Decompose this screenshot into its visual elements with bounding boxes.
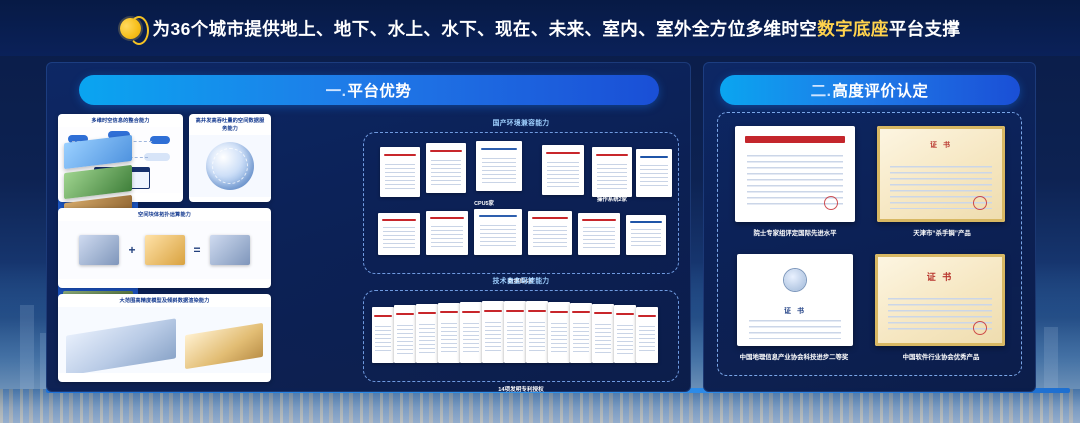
panel-platform-advantages: 一. 平台优势 多维时空信息的整合能力 <box>46 62 691 392</box>
plus-icon: + <box>128 243 135 257</box>
diagram-boolean-ops: + = <box>58 221 271 279</box>
patent-thumb[interactable] <box>548 302 570 363</box>
certificate-caption: 院士专家组评定国际先进水平 <box>725 228 865 237</box>
card-label: 多维时空信息的整合能力 <box>58 114 183 127</box>
patent-thumb[interactable] <box>592 304 614 363</box>
card-large-scale-rendering[interactable]: 大范围高精度模型及倾斜数据渲染能力 <box>58 294 271 382</box>
page-title-highlight: 数字底座 <box>817 19 889 39</box>
top-title-bar: 为36个城市提供地上、地下、水上、水下、现在、未来、室内、室外全方位多维时空数字… <box>0 0 1080 56</box>
panel-high-evaluation: 二. 高度评价认定 院士专家组评定国际先进水平 证 书 天津市“杀手锏”产品 <box>703 62 1036 392</box>
certificate-caption: 中国地理信息产业协会科技进步二等奖 <box>719 352 869 361</box>
patent-thumb[interactable] <box>372 307 394 363</box>
terrain-mesh <box>66 318 176 373</box>
certificate-title: 证 书 <box>877 140 1005 150</box>
certificate-title: 证 书 <box>875 270 1005 283</box>
right-panel-body: 院士专家组评定国际先进水平 证 书 天津市“杀手锏”产品 证 书 中国地理信息产… <box>717 112 1022 382</box>
certificate-caption: 中国软件行业协会优秀产品 <box>875 352 1007 361</box>
certificate-header-band <box>745 136 846 143</box>
section-label-right: 高度评价认定 <box>832 79 928 101</box>
section-title-platform-advantages: 一. 平台优势 <box>79 75 659 105</box>
section-label-left: 平台优势 <box>347 79 411 101</box>
group-independent-controllable: 技术自主可控能力 14项发明专利授权 <box>363 290 679 382</box>
card-label: 大范围高精度模型及倾斜数据渲染能力 <box>58 294 271 307</box>
patent-thumb[interactable] <box>526 301 548 363</box>
building <box>1044 327 1058 397</box>
certificate-thumb[interactable] <box>542 145 584 195</box>
left-panel-body: 多维时空信息的整合能力 高并发高吞吐量的空间数据服务能力 <box>58 114 679 382</box>
diagram-terrain-render <box>58 307 271 373</box>
river-reflection <box>0 389 1080 423</box>
certificate-thumb[interactable] <box>426 211 468 255</box>
equals-icon: = <box>194 243 201 257</box>
patent-thumb[interactable] <box>636 307 658 363</box>
patent-thumb[interactable] <box>504 301 526 363</box>
moon-icon <box>120 18 141 39</box>
certificate-caption: 天津市“杀手锏”产品 <box>877 228 1007 237</box>
certificate-thumb[interactable] <box>380 147 420 197</box>
patent-thumb[interactable] <box>394 305 416 363</box>
certificate-thumb[interactable] <box>592 147 632 197</box>
building <box>20 305 34 397</box>
certificate-software-association-award[interactable]: 证 书 <box>875 254 1005 346</box>
certificate-tianjin-killer-product[interactable]: 证 书 <box>877 126 1005 222</box>
certificate-title: 证 书 <box>737 306 853 316</box>
section-number-left: 一. <box>326 79 347 101</box>
block-shape <box>145 235 185 265</box>
card-label: 空间块体拓扑运算能力 <box>58 208 271 221</box>
content-stage: 一. 平台优势 多维时空信息的整合能力 <box>46 62 1036 392</box>
page-title-suffix: 平台支撑 <box>889 19 961 39</box>
patent-thumb[interactable] <box>614 305 636 363</box>
patent-thumb[interactable] <box>438 303 460 363</box>
award-badge-icon <box>784 269 806 291</box>
patent-thumb[interactable] <box>416 304 438 363</box>
group-title: 国产环境兼容能力 <box>364 117 678 127</box>
certificate-thumb[interactable] <box>476 141 522 191</box>
globe-icon <box>206 142 254 190</box>
certificate-academician-review[interactable] <box>735 126 855 222</box>
certificate-thumb[interactable] <box>426 143 466 193</box>
certificate-thumb[interactable] <box>578 213 620 255</box>
section-header-right: 二. 高度评价认定 <box>703 75 1036 105</box>
certificate-thumb[interactable] <box>626 215 666 255</box>
section-number-right: 二. <box>811 79 832 101</box>
patent-thumb[interactable] <box>460 302 482 363</box>
page-title: 为36个城市提供地上、地下、水上、水下、现在、未来、室内、室外全方位多维时空数字… <box>153 16 961 41</box>
certificate-thumb[interactable] <box>474 209 522 255</box>
certificate-gis-association-award[interactable]: 证 书 <box>737 254 853 346</box>
sub-label-patents: 14项发明专利授权 <box>364 385 678 392</box>
patent-thumb[interactable] <box>482 301 504 363</box>
page-title-prefix: 为36个城市提供地上、地下、水上、水下、现在、未来、室内、室外全方位多维时空 <box>153 19 818 39</box>
card-label: 高并发高吞吐量的空间数据服务能力 <box>189 114 271 135</box>
patent-thumb[interactable] <box>570 303 592 363</box>
certificate-thumb[interactable] <box>528 211 572 255</box>
card-high-concurrency-service[interactable]: 高并发高吞吐量的空间数据服务能力 <box>189 114 271 202</box>
block-shape <box>79 235 119 265</box>
section-title-high-evaluation: 二. 高度评价认定 <box>720 75 1020 105</box>
section-header-left: 一. 平台优势 <box>46 75 691 105</box>
sub-label-os-vendors: 操作系统2家 <box>572 195 652 203</box>
seal-icon <box>973 321 987 335</box>
certificate-thumb[interactable] <box>378 213 420 255</box>
group-domestic-compatibility: 国产环境兼容能力 CPU5家 操作系统2家 数据库6家 <box>363 132 679 274</box>
certificate-thumb[interactable] <box>636 149 672 197</box>
certificate-body-lines <box>749 320 842 338</box>
diagram-sphere <box>189 135 271 197</box>
diagram-node <box>150 136 170 144</box>
sub-label-cpu-vendors: CPU5家 <box>454 199 514 207</box>
terrain-mesh <box>185 323 263 369</box>
block-shape <box>210 235 250 265</box>
card-block-topology-operation[interactable]: 空间块体拓扑运算能力 + = <box>58 208 271 288</box>
group-title: 技术自主可控能力 <box>364 275 678 285</box>
